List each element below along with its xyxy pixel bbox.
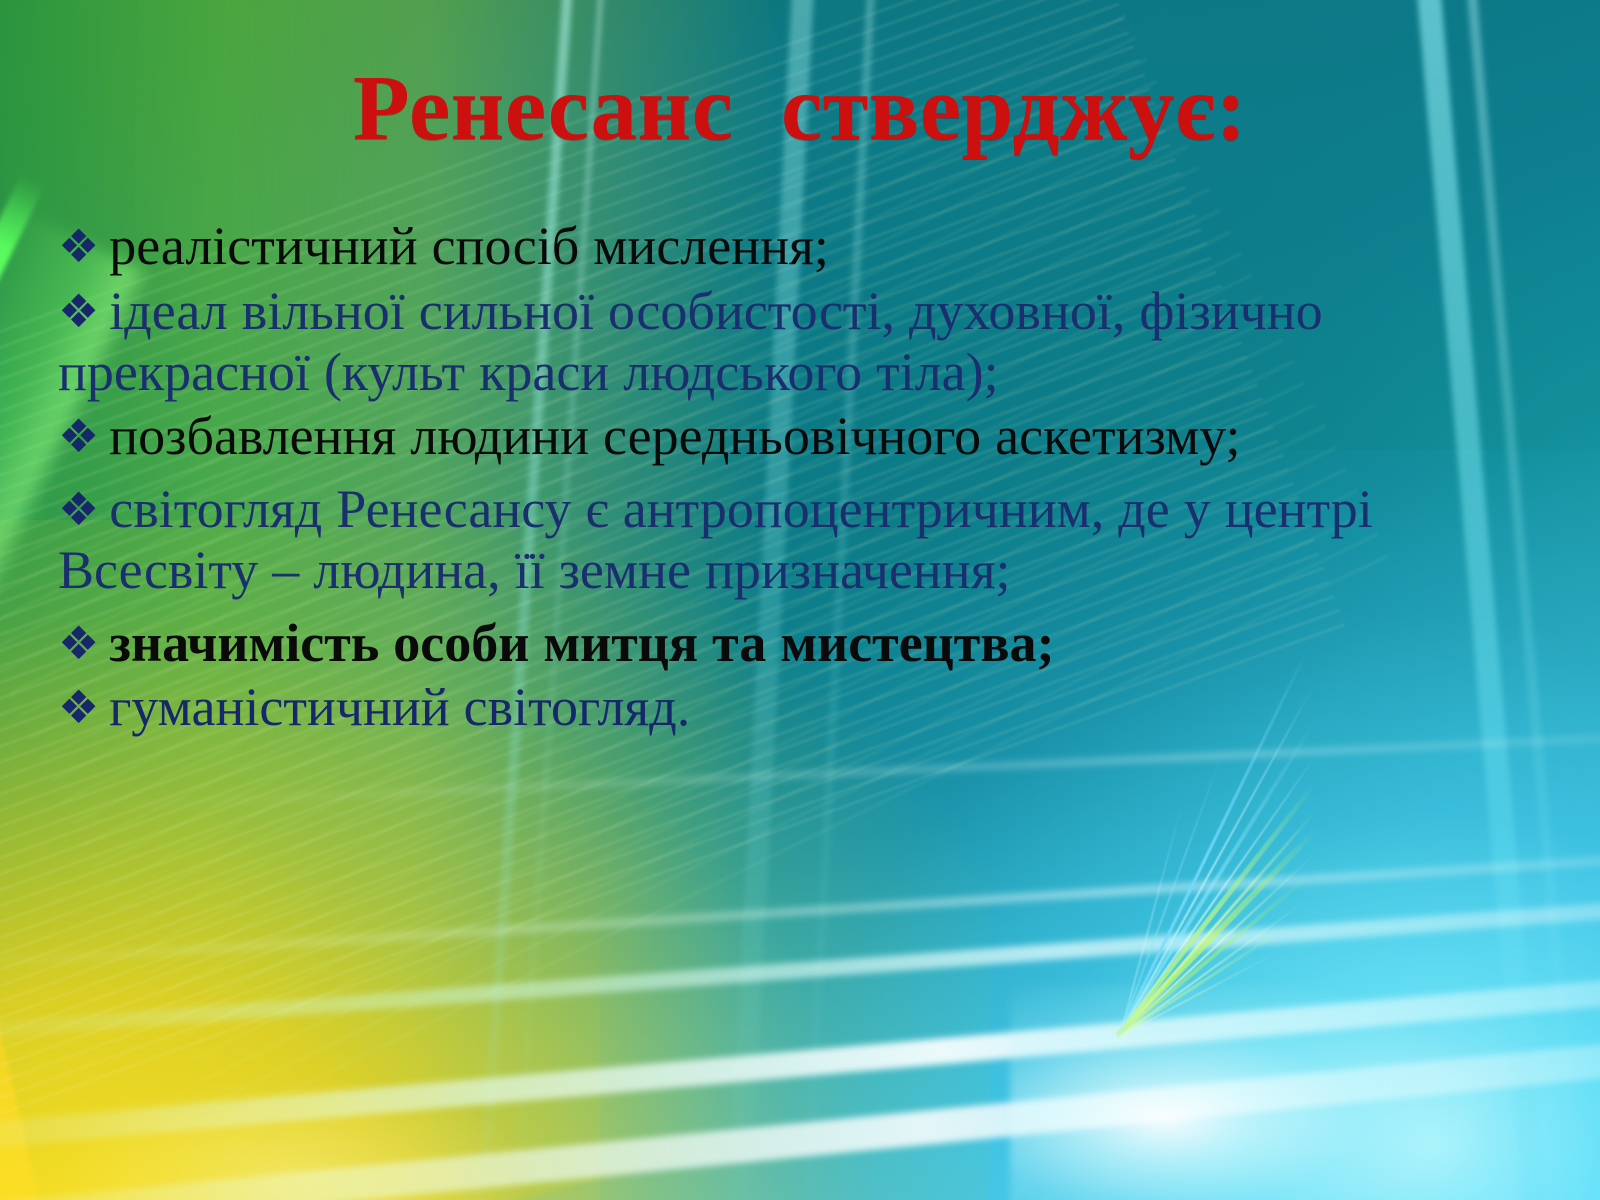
diamond-bullet-icon: ❖ — [58, 684, 99, 730]
list-item: ❖світогляд Ренесансу є антропоцентричним… — [58, 479, 1556, 601]
diamond-bullet-icon: ❖ — [58, 486, 99, 532]
list-item-text: світогляд Ренесансу є антропоцентричним,… — [58, 479, 1373, 600]
list-item-text: реалістичний спосіб мислення; — [109, 216, 829, 276]
bullet-list: ❖реалістичний спосіб мислення; ❖ідеал ві… — [58, 216, 1556, 742]
list-item-text: гуманістичний світогляд. — [109, 677, 690, 737]
list-item-text: ідеал вільної сильної особистості, духов… — [58, 281, 1323, 402]
list-item: ❖позбавлення людини середньовічного аске… — [58, 406, 1556, 467]
slide-title: Ренесанс стверджує: — [0, 62, 1600, 157]
diamond-bullet-icon: ❖ — [58, 620, 99, 666]
list-item: ❖гуманістичний світогляд. — [58, 677, 1556, 738]
diamond-bullet-icon: ❖ — [58, 223, 99, 269]
list-item-text: позбавлення людини середньовічного аскет… — [109, 406, 1240, 466]
list-item: ❖ідеал вільної сильної особистості, духо… — [58, 281, 1556, 403]
diamond-bullet-icon: ❖ — [58, 288, 99, 334]
list-item-text: значимість особи митця та мистецтва; — [109, 613, 1054, 673]
list-item: ❖значимість особи митця та мистецтва; — [58, 613, 1556, 674]
list-item: ❖реалістичний спосіб мислення; — [58, 216, 1556, 277]
diamond-bullet-icon: ❖ — [58, 413, 99, 459]
presentation-slide: Ренесанс стверджує: ❖реалістичний спосіб… — [0, 0, 1600, 1200]
slide-content: Ренесанс стверджує: ❖реалістичний спосіб… — [0, 0, 1600, 1200]
